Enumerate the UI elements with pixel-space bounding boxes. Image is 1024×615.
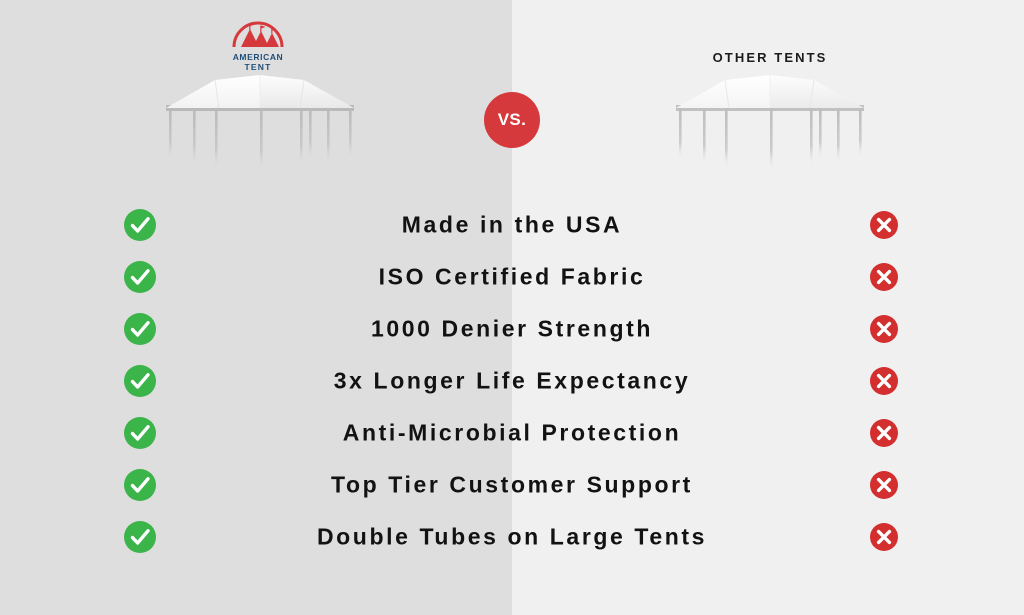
vs-badge: VS. — [484, 92, 540, 148]
white-frame-tent-icon — [662, 72, 878, 172]
feature-label: Double Tubes on Large Tents — [170, 524, 854, 551]
other-tents-label: OTHER TENTS — [640, 50, 900, 65]
green-check-circle-icon — [122, 519, 158, 555]
brand-wordmark: AMERICAN TENT — [128, 52, 388, 72]
green-check-circle-icon — [122, 207, 158, 243]
american-tent-check-cell — [122, 207, 158, 243]
white-frame-tent-icon — [152, 72, 368, 172]
feature-row-2: ISO Certified Fabric — [0, 251, 1024, 303]
feature-label: ISO Certified Fabric — [170, 264, 854, 291]
american-tent-check-cell — [122, 311, 158, 347]
red-x-circle-icon — [866, 259, 902, 295]
feature-label: Anti-Microbial Protection — [170, 420, 854, 447]
feature-label: 3x Longer Life Expectancy — [170, 368, 854, 395]
feature-row-6: Top Tier Customer Support — [0, 459, 1024, 511]
feature-label: Made in the USA — [170, 212, 854, 239]
brand-name-line1: AMERICAN — [128, 52, 388, 62]
header-section: AMERICAN TENT — [0, 0, 1024, 190]
american-tent-check-cell — [122, 415, 158, 451]
other-tents-cross-cell — [866, 363, 902, 399]
other-tents-cross-cell — [866, 467, 902, 503]
green-check-circle-icon — [122, 259, 158, 295]
other-tents-cross-cell — [866, 519, 902, 555]
red-x-circle-icon — [866, 311, 902, 347]
american-tent-arch-logo-icon — [230, 14, 286, 50]
feature-row-7: Double Tubes on Large Tents — [0, 511, 1024, 563]
american-tent-check-cell — [122, 467, 158, 503]
american-tent-check-cell — [122, 363, 158, 399]
green-check-circle-icon — [122, 415, 158, 451]
other-tents-cross-cell — [866, 259, 902, 295]
brand-name-line2: TENT — [128, 62, 388, 72]
comparison-graphic: AMERICAN TENT — [0, 0, 1024, 615]
feature-row-1: Made in the USA — [0, 199, 1024, 251]
red-x-circle-icon — [866, 467, 902, 503]
feature-label: Top Tier Customer Support — [170, 472, 854, 499]
other-tent-image — [662, 72, 878, 172]
other-tents-cross-cell — [866, 207, 902, 243]
red-x-circle-icon — [866, 519, 902, 555]
american-tent-image — [152, 72, 368, 172]
red-x-circle-icon — [866, 207, 902, 243]
other-tents-brand: OTHER TENTS — [640, 50, 900, 65]
american-tent-brand: AMERICAN TENT — [128, 14, 388, 72]
green-check-circle-icon — [122, 311, 158, 347]
green-check-circle-icon — [122, 363, 158, 399]
other-tents-cross-cell — [866, 311, 902, 347]
american-tent-check-cell — [122, 519, 158, 555]
red-x-circle-icon — [866, 415, 902, 451]
green-check-circle-icon — [122, 467, 158, 503]
other-tents-cross-cell — [866, 415, 902, 451]
feature-row-4: 3x Longer Life Expectancy — [0, 355, 1024, 407]
feature-label: 1000 Denier Strength — [170, 316, 854, 343]
feature-comparison-list: Made in the USA ISO Certified Fabric — [0, 199, 1024, 563]
red-x-circle-icon — [866, 363, 902, 399]
feature-row-5: Anti-Microbial Protection — [0, 407, 1024, 459]
american-tent-check-cell — [122, 259, 158, 295]
feature-row-3: 1000 Denier Strength — [0, 303, 1024, 355]
